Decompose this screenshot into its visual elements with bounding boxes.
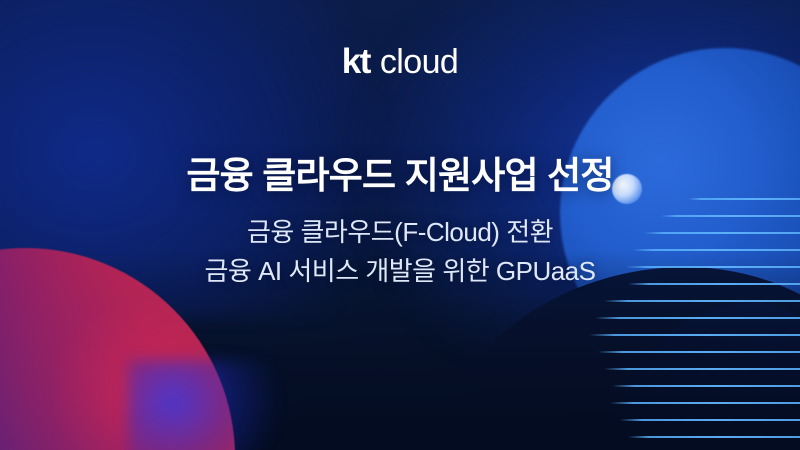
subtitle-line-1: 금융 클라우드(F-Cloud) 전환 bbox=[205, 215, 596, 250]
banner-content: kt cloud 금융 클라우드 지원사업 선정 금융 클라우드(F-Cloud… bbox=[0, 0, 800, 450]
subtitle-block: 금융 클라우드(F-Cloud) 전환 금융 AI 서비스 개발을 위한 GPU… bbox=[205, 215, 596, 288]
kt-cloud-logo: kt cloud bbox=[342, 44, 458, 79]
subtitle-line-2: 금융 AI 서비스 개발을 위한 GPUaaS bbox=[205, 254, 596, 289]
page-title: 금융 클라우드 지원사업 선정 bbox=[186, 145, 613, 199]
logo-kt-text: kt bbox=[342, 44, 370, 79]
promo-banner: kt cloud 금융 클라우드 지원사업 선정 금융 클라우드(F-Cloud… bbox=[0, 0, 800, 450]
logo-cloud-text: cloud bbox=[380, 45, 458, 79]
